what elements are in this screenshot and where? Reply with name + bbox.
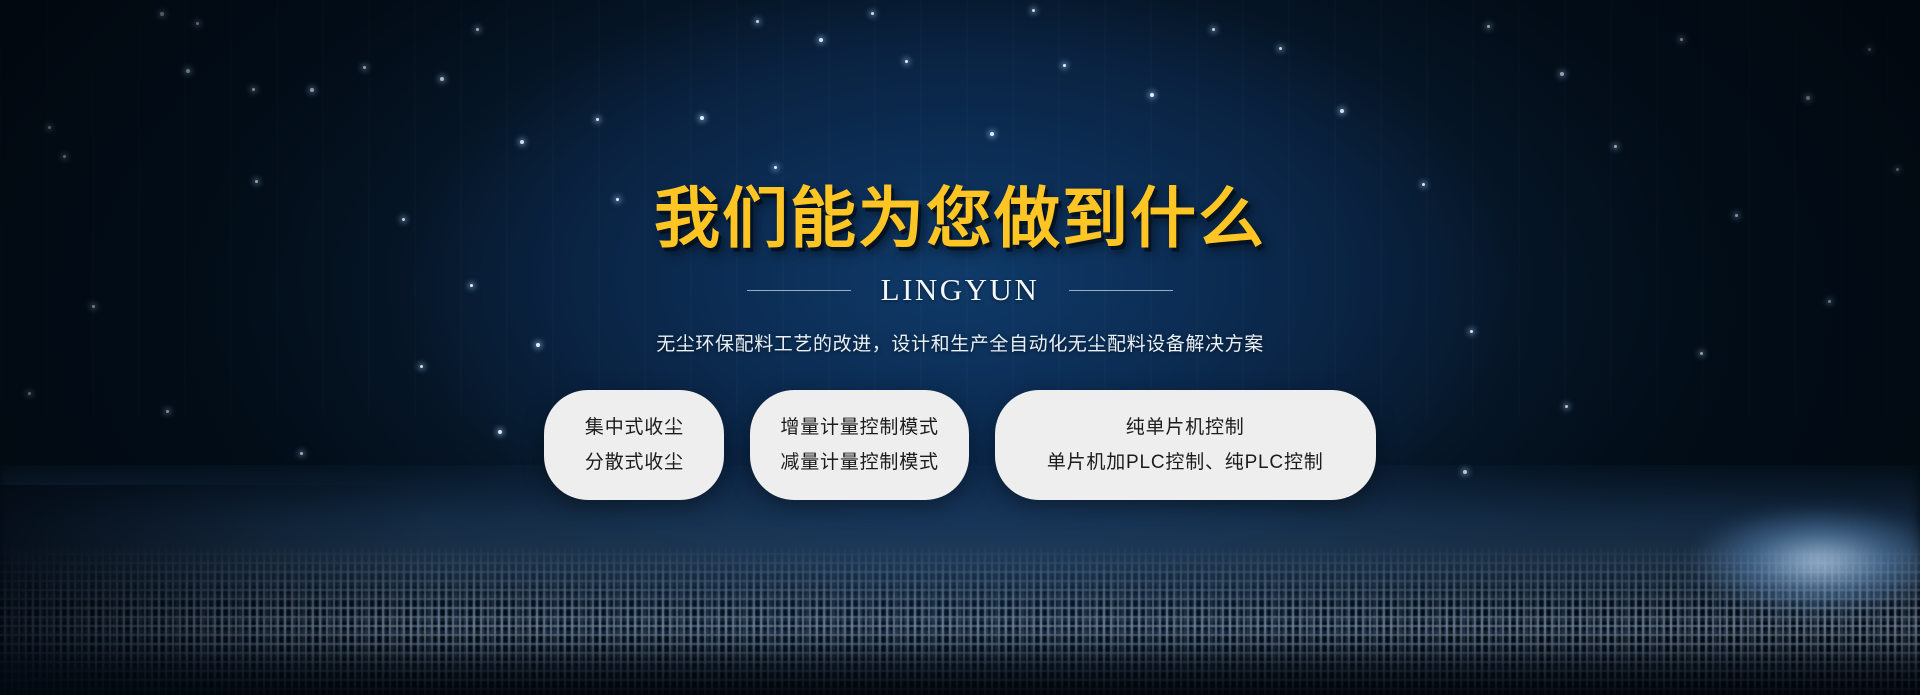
star-particle: [252, 88, 255, 91]
star-particle: [871, 12, 874, 15]
star-particle: [1063, 64, 1066, 67]
feature-card-control-system[interactable]: 纯单片机控制 单片机加PLC控制、纯PLC控制: [995, 390, 1376, 500]
star-particle: [1614, 145, 1617, 148]
star-particle: [1212, 28, 1215, 31]
star-particle: [1868, 48, 1871, 51]
star-particle: [1340, 109, 1344, 113]
star-particle: [310, 88, 314, 92]
star-particle: [1463, 470, 1467, 474]
page-title: 我们能为您做到什么: [654, 186, 1266, 252]
brand-row: LINGYUN: [747, 272, 1174, 308]
feature-card-dust-collection[interactable]: 集中式收尘 分散式收尘: [544, 390, 724, 500]
star-particle: [300, 452, 303, 455]
star-particle: [1680, 38, 1683, 41]
star-particle: [48, 126, 51, 129]
star-particle: [756, 20, 759, 23]
star-particle: [476, 28, 479, 31]
star-particle: [498, 430, 502, 434]
star-particle: [63, 155, 66, 158]
wave-mesh-front: [0, 545, 1920, 695]
star-particle: [1487, 25, 1490, 28]
feature-card-metering-mode[interactable]: 增量计量控制模式 减量计量控制模式: [750, 390, 968, 500]
wave-left-shade: [0, 485, 430, 695]
star-particle: [1422, 183, 1425, 186]
banner-content: 我们能为您做到什么 LINGYUN 无尘环保配料工艺的改进，设计和生产全自动化无…: [0, 0, 1920, 695]
star-particle: [440, 77, 444, 81]
feature-card-line-2: 单片机加PLC控制、纯PLC控制: [1047, 453, 1324, 472]
star-particle: [1560, 72, 1564, 76]
star-particle: [1565, 405, 1568, 408]
star-particle: [420, 365, 423, 368]
right-edge-glow: [1690, 507, 1920, 617]
feature-card-line-1: 纯单片机控制: [1126, 418, 1245, 437]
star-particle: [1828, 300, 1831, 303]
feature-card-line-1: 集中式收尘: [585, 418, 684, 437]
feature-card-line-2: 分散式收尘: [585, 453, 684, 472]
feature-card-line-1: 增量计量控制模式: [780, 418, 938, 437]
star-particle: [616, 198, 619, 201]
star-particle: [520, 140, 524, 144]
star-particle: [166, 410, 169, 413]
star-particle: [1806, 96, 1810, 100]
star-particle: [700, 116, 704, 120]
star-particle: [990, 132, 994, 136]
wave-bottom-shade: [0, 625, 1920, 695]
star-particle: [536, 343, 540, 347]
banner-description: 无尘环保配料工艺的改进，设计和生产全自动化无尘配料设备解决方案: [656, 329, 1264, 356]
star-particle: [905, 60, 908, 63]
star-particle: [1470, 330, 1473, 333]
star-particle: [1150, 93, 1154, 97]
star-particle: [160, 12, 164, 16]
hero-banner: 我们能为您做到什么 LINGYUN 无尘环保配料工艺的改进，设计和生产全自动化无…: [0, 0, 1920, 695]
star-particle: [1032, 9, 1035, 12]
star-particle: [186, 69, 190, 73]
star-particle: [596, 118, 599, 121]
star-particle: [1700, 352, 1703, 355]
left-divider-rule: [747, 290, 851, 291]
wave-mesh-back: [0, 561, 1920, 681]
star-particle: [774, 166, 777, 169]
right-divider-rule: [1069, 290, 1173, 291]
star-particle: [255, 180, 258, 183]
star-particle: [92, 305, 95, 308]
feature-card-line-2: 减量计量控制模式: [780, 453, 938, 472]
star-particle: [470, 284, 473, 287]
brand-name: LINGYUN: [881, 272, 1040, 308]
star-particle: [28, 392, 31, 395]
star-particle: [402, 218, 405, 221]
star-particle: [1896, 168, 1899, 171]
feature-card-list: 集中式收尘 分散式收尘 增量计量控制模式 减量计量控制模式 纯单片机控制 单片机…: [544, 390, 1375, 500]
star-particle: [363, 66, 366, 69]
star-particle: [819, 38, 823, 42]
star-particle: [1735, 214, 1738, 217]
star-particle: [196, 22, 199, 25]
star-particle: [1279, 47, 1282, 50]
